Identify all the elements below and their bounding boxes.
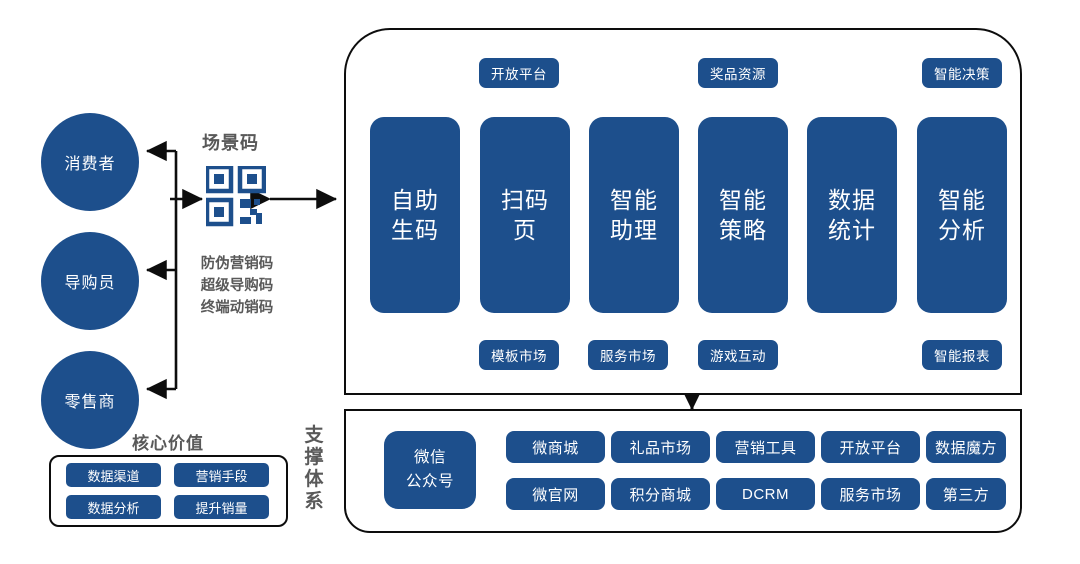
support-micro-website[interactable]: 微官网	[506, 478, 605, 510]
support-open-platform[interactable]: 开放平台	[821, 431, 920, 463]
diagram-canvas: 消费者 导购员 零售商 场景码 防伪营销码 超级导购码 终端动销码 开放平台	[0, 0, 1080, 564]
support-gift-market[interactable]: 礼品市场	[611, 431, 710, 463]
qr-code-icon	[206, 166, 266, 228]
chip-label: 营销手段	[195, 466, 247, 485]
vlabel-c3: 体	[303, 469, 325, 491]
chip-label: 礼品市场	[629, 437, 691, 458]
code-type: 超级导购码	[195, 275, 279, 297]
support-third-party[interactable]: 第三方	[926, 478, 1006, 510]
chip-label: 服务市场	[600, 345, 656, 365]
chip-label: 游戏互动	[710, 345, 766, 365]
chip-label: 数据分析	[87, 498, 139, 517]
code-type: 终端动销码	[195, 297, 279, 319]
chip-game-interaction[interactable]: 游戏互动	[698, 340, 778, 370]
chip-label: 开放平台	[839, 437, 901, 458]
core-value-boost-sales[interactable]: 提升销量	[174, 495, 269, 519]
pillar-smart-analysis[interactable]: 智能 分析	[917, 117, 1007, 313]
chip-smart-report[interactable]: 智能报表	[922, 340, 1002, 370]
vlabel-c2: 撑	[303, 447, 325, 469]
core-value-data-channel[interactable]: 数据渠道	[66, 463, 161, 487]
persona-label: 导购员	[64, 269, 115, 293]
core-value-data-analysis[interactable]: 数据分析	[66, 495, 161, 519]
chip-label: 提升销量	[195, 498, 247, 517]
persona-guide[interactable]: 导购员	[41, 232, 139, 330]
vlabel-c4: 系	[303, 491, 325, 513]
support-dcrm[interactable]: DCRM	[716, 478, 815, 510]
chip-label: 模板市场	[491, 345, 547, 365]
chip-label: 数据渠道	[87, 466, 139, 485]
code-type-list: 防伪营销码 超级导购码 终端动销码	[195, 253, 279, 319]
vlabel-c1: 支	[303, 425, 325, 447]
chip-open-platform[interactable]: 开放平台	[479, 58, 559, 88]
pillar-self-code-generation[interactable]: 自助 生码	[370, 117, 460, 313]
support-marketing-tools[interactable]: 营销工具	[716, 431, 815, 463]
chip-prize-resources[interactable]: 奖品资源	[698, 58, 778, 88]
chip-smart-decision[interactable]: 智能决策	[922, 58, 1002, 88]
pillar-label: 智能 助理	[610, 185, 658, 245]
chip-label: 微信 公众号	[406, 446, 454, 494]
chip-label: 积分商城	[629, 484, 691, 505]
pillar-smart-assistant[interactable]: 智能 助理	[589, 117, 679, 313]
pillar-label: 自助 生码	[391, 185, 439, 245]
core-value-marketing-means[interactable]: 营销手段	[174, 463, 269, 487]
persona-label: 零售商	[64, 388, 115, 412]
chip-label: 营销工具	[734, 437, 796, 458]
chip-label: DCRM	[742, 486, 789, 503]
persona-retailer[interactable]: 零售商	[41, 351, 139, 449]
pillar-label: 扫码 页	[501, 185, 549, 245]
pillar-smart-strategy[interactable]: 智能 策略	[698, 117, 788, 313]
pillar-label: 智能 策略	[719, 185, 767, 245]
chip-label: 第三方	[943, 484, 990, 505]
pillar-label: 数据 统计	[828, 185, 876, 245]
persona-label: 消费者	[64, 150, 115, 174]
chip-label: 服务市场	[839, 484, 901, 505]
support-service-market[interactable]: 服务市场	[821, 478, 920, 510]
chip-service-market[interactable]: 服务市场	[588, 340, 668, 370]
chip-template-market[interactable]: 模板市场	[479, 340, 559, 370]
support-points-mall[interactable]: 积分商城	[611, 478, 710, 510]
support-wechat-official-account[interactable]: 微信 公众号	[384, 431, 476, 509]
pillar-scan-page[interactable]: 扫码 页	[480, 117, 570, 313]
chip-label: 智能决策	[934, 63, 990, 83]
support-data-cube[interactable]: 数据魔方	[926, 431, 1006, 463]
chip-label: 开放平台	[491, 63, 547, 83]
pillar-label: 智能 分析	[938, 185, 986, 245]
support-system-vertical-label: 支 撑 体 系	[303, 425, 325, 513]
support-micro-mall[interactable]: 微商城	[506, 431, 605, 463]
persona-consumer[interactable]: 消费者	[41, 113, 139, 211]
chip-label: 数据魔方	[935, 437, 997, 458]
code-type: 防伪营销码	[195, 253, 279, 275]
pillar-data-statistics[interactable]: 数据 统计	[807, 117, 897, 313]
chip-label: 微商城	[532, 437, 579, 458]
chip-label: 微官网	[532, 484, 579, 505]
chip-label: 智能报表	[934, 345, 990, 365]
chip-label: 奖品资源	[710, 63, 766, 83]
scene-code-title: 场景码	[202, 129, 259, 155]
core-value-title: 核心价值	[132, 429, 204, 454]
